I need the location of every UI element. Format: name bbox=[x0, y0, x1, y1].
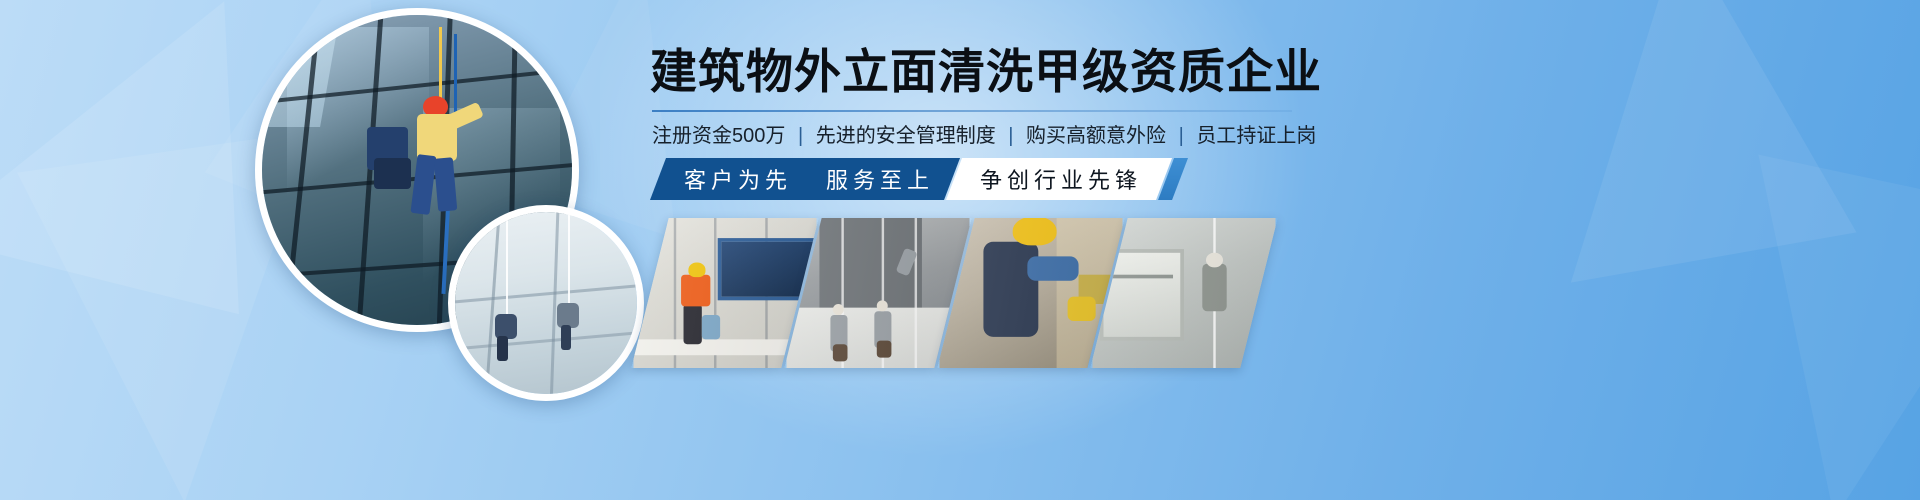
tagline-secondary: 服务至上 bbox=[826, 163, 934, 195]
tagline-blue-segment: 客户为先 服务至上 bbox=[650, 158, 960, 200]
worker-2-leg bbox=[497, 336, 508, 361]
subtitle-separator-2: | bbox=[1008, 125, 1013, 147]
subtitle: 注册资金500万 | 先进的安全管理制度 | 购买高额意外险 | 员工持证上岗 bbox=[652, 122, 1312, 151]
subtitle-separator-1: | bbox=[798, 125, 803, 147]
subtitle-part-3: 购买高额意外险 bbox=[1026, 125, 1166, 147]
facade-workers-image bbox=[455, 212, 637, 394]
tagline-white-segment: 争创行业先锋 bbox=[946, 158, 1172, 200]
equipment-bag bbox=[374, 158, 411, 189]
worker-3-leg bbox=[561, 325, 572, 350]
tagline-ribbon: 客户为先 服务至上 争创行业先锋 bbox=[650, 158, 1188, 200]
tagline-primary: 客户为先 bbox=[684, 163, 792, 195]
title-divider bbox=[652, 110, 1292, 112]
subtitle-part-1: 注册资金500万 bbox=[652, 125, 785, 147]
rope-a bbox=[506, 212, 508, 325]
light-facade-wall bbox=[448, 205, 644, 401]
worker-leg-right bbox=[433, 157, 456, 211]
photo-tile-4-inner bbox=[1093, 218, 1276, 368]
rope-b bbox=[568, 212, 570, 314]
subtitle-part-4: 员工持证上岗 bbox=[1196, 125, 1316, 147]
tile-4-shade bbox=[1093, 218, 1276, 368]
page-title: 建筑物外立面清洗甲级资质企业 bbox=[650, 48, 1290, 95]
promo-banner: 建筑物外立面清洗甲级资质企业 注册资金500万 | 先进的安全管理制度 | 购买… bbox=[0, 0, 1920, 500]
tagline-highlight: 争创行业先锋 bbox=[980, 163, 1142, 195]
photo-strip bbox=[650, 218, 1310, 368]
circle-photo-secondary bbox=[448, 205, 644, 401]
subtitle-part-2: 先进的安全管理制度 bbox=[816, 125, 996, 147]
subtitle-separator-3: | bbox=[1179, 125, 1184, 147]
banner-content: 建筑物外立面清洗甲级资质企业 注册资金500万 | 先进的安全管理制度 | 购买… bbox=[650, 0, 1920, 500]
